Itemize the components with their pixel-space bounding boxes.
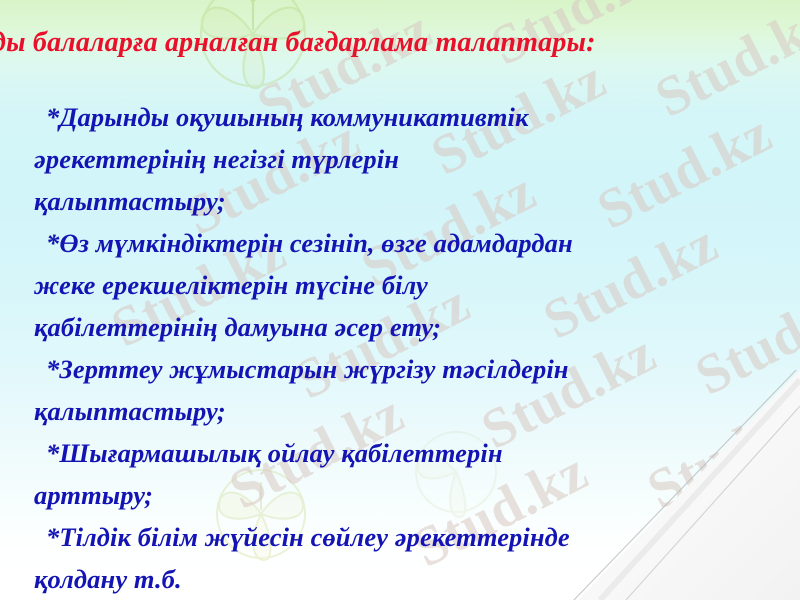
bullet-line: қалыптастыру;: [40, 180, 800, 222]
bullet-line: *Шығармашылық ойлау қабілеттерін: [40, 432, 800, 474]
bullet-line: қолдану т.б.: [40, 558, 800, 600]
bullet-line: арттыру;: [40, 474, 800, 516]
bullet-line: *Зерттеу жұмыстарын жүргізу тәсілдерін: [40, 348, 800, 390]
bullet-item: *Зерттеу жұмыстарын жүргізу тәсілдерін қ…: [40, 348, 800, 432]
slide-body: *Дарынды оқушының коммуникативтік әрекет…: [40, 96, 800, 600]
bullet-line: әрекеттерінің негізгі түрлерін: [40, 138, 800, 180]
bullet-item: *Дарынды оқушының коммуникативтік әрекет…: [40, 96, 800, 222]
bullet-item: *Өз мүмкіндіктерін сезініп, өзге адамдар…: [40, 222, 800, 348]
bullet-line: *Өз мүмкіндіктерін сезініп, өзге адамдар…: [40, 222, 800, 264]
bullet-line: жеке ерекшеліктерін түсіне білу: [40, 264, 800, 306]
slide-title: ды балаларға арналған бағдарлама талапта…: [0, 26, 692, 60]
bullet-line: *Дарынды оқушының коммуникативтік: [40, 96, 800, 138]
bullet-line: қабілеттерінің дамуына әсер ету;: [40, 306, 800, 348]
bullet-item: *Шығармашылық ойлау қабілеттерін арттыру…: [40, 432, 800, 516]
bullet-line: қалыптастыру;: [40, 390, 800, 432]
bullet-line: *Тілдік білім жүйесін сөйлеу әрекеттерін…: [40, 516, 800, 558]
slide-canvas: Stud.kz Stud.kz Stud.kz Stud.kz Stud.kz …: [0, 0, 800, 600]
bullet-item: *Тілдік білім жүйесін сөйлеу әрекеттерін…: [40, 516, 800, 600]
